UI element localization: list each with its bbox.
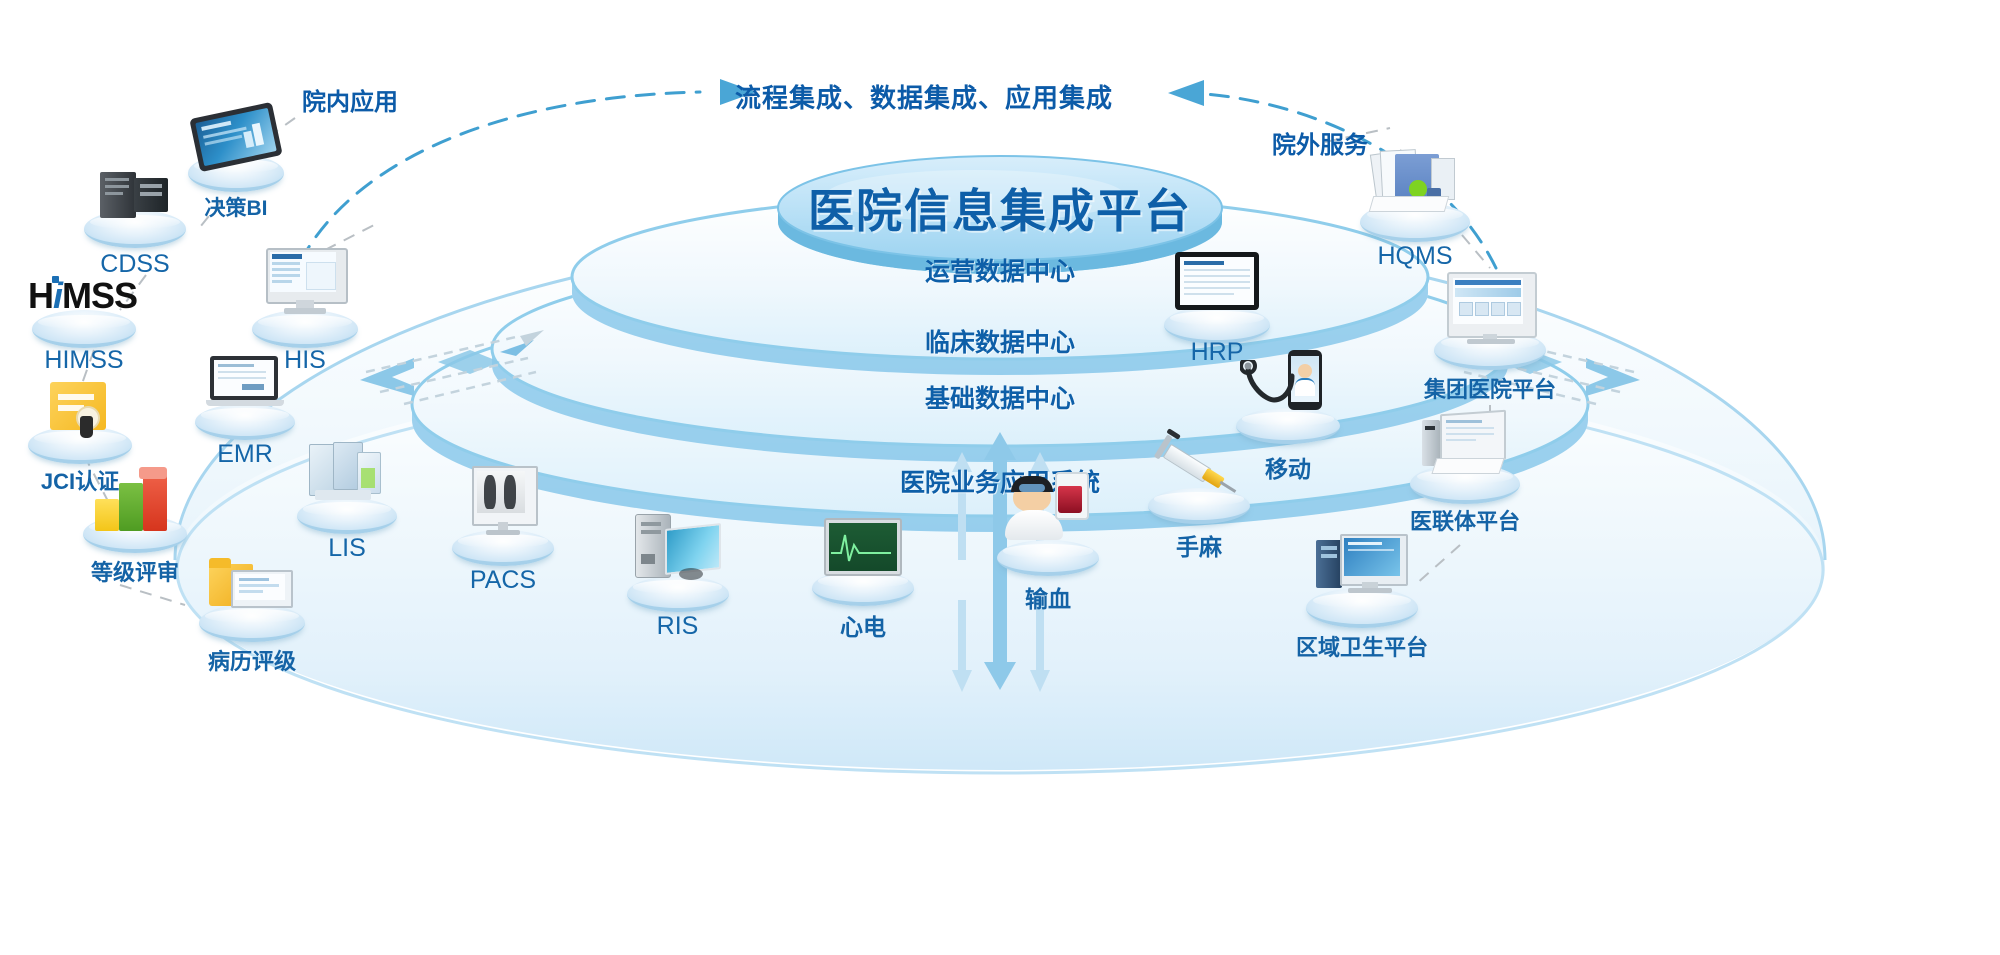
node-mobile[interactable]: 移动	[1228, 350, 1348, 480]
blood-transfusion-icon	[1005, 470, 1091, 548]
himss-logo-icon: HiMSS	[28, 276, 140, 318]
node-label: LIS	[328, 534, 366, 563]
node-label: 决策BI	[205, 192, 268, 222]
node-label: 区域卫生平台	[1296, 630, 1428, 662]
node-hqms[interactable]: HQMS	[1352, 148, 1478, 270]
top-banner-label: 流程集成、数据集成、应用集成	[735, 78, 1113, 115]
node-label: HRP	[1191, 338, 1244, 367]
node-himss[interactable]: HiMSS HIMSS	[22, 268, 146, 378]
ecg-monitor-icon	[824, 518, 902, 576]
node-ris[interactable]: RIS	[620, 508, 735, 638]
layer-label-foundation: 基础数据中心	[925, 379, 1075, 415]
workstation-icon	[635, 514, 721, 584]
node-his[interactable]: HIS	[250, 248, 360, 368]
node-pacs[interactable]: PACS	[448, 466, 558, 592]
monitor-documents-icon	[1420, 410, 1510, 474]
node-group-hospital-platform[interactable]: 集团医院平台	[1410, 272, 1570, 402]
node-label: RIS	[657, 612, 699, 641]
node-label: PACS	[470, 566, 536, 595]
blue-monitor-icon	[1316, 534, 1408, 598]
layer-label-operational: 运营数据中心	[925, 252, 1075, 288]
node-label: EMR	[217, 440, 273, 469]
node-grade-review[interactable]: 等级评审	[70, 455, 200, 585]
tablet-chart-icon	[1175, 252, 1259, 310]
layer-label-clinical: 临床数据中心	[925, 323, 1075, 359]
xray-monitor-icon	[472, 466, 534, 538]
node-decision-bi[interactable]: 决策BI	[186, 108, 286, 218]
node-label: 手麻	[1176, 528, 1222, 562]
node-emr[interactable]: EMR	[190, 352, 300, 467]
documents-icon	[1365, 148, 1465, 214]
server-icon	[100, 168, 170, 220]
lab-analyzer-icon	[307, 442, 387, 504]
platform-title: 医院信息集成平台	[808, 175, 1192, 241]
node-cdss[interactable]: CDSS	[80, 168, 190, 280]
certificate-icon	[50, 382, 110, 438]
node-label: HIMSS	[44, 346, 123, 375]
node-label: 集团医院平台	[1424, 372, 1556, 404]
exchange-arrows-left-icon	[360, 330, 544, 404]
node-label: HQMS	[1378, 242, 1453, 271]
integration-arc-left	[300, 92, 700, 262]
node-hrp[interactable]: HRP	[1158, 248, 1276, 366]
node-ecg[interactable]: 心电	[808, 508, 918, 638]
diagram-canvas: 医院信息集成平台 运营数据中心 临床数据中心 基础数据中心 医院业务应用系统 流…	[0, 0, 2000, 955]
crt-monitor-icon	[1447, 272, 1533, 344]
desktop-monitor-icon	[266, 248, 344, 316]
node-regional-health-platform[interactable]: 区域卫生平台	[1282, 534, 1442, 664]
node-label: 移动	[1265, 450, 1311, 484]
laptop-icon	[206, 356, 284, 410]
group-label-internal: 院内应用	[302, 82, 398, 117]
node-label: 心电	[840, 608, 886, 642]
node-label: 输血	[1025, 580, 1071, 614]
node-label: 医联体平台	[1410, 504, 1520, 536]
bar-chart-icon	[91, 467, 179, 531]
node-label: 等级评审	[91, 555, 179, 587]
node-label: 病历评级	[208, 644, 296, 676]
node-record-rating[interactable]: 病历评级	[182, 548, 322, 678]
node-medical-consortium-platform[interactable]: 医联体平台	[1390, 406, 1540, 536]
node-lis[interactable]: LIS	[292, 440, 402, 562]
node-transfusion[interactable]: 输血	[990, 470, 1106, 600]
folder-laptop-icon	[209, 554, 295, 612]
